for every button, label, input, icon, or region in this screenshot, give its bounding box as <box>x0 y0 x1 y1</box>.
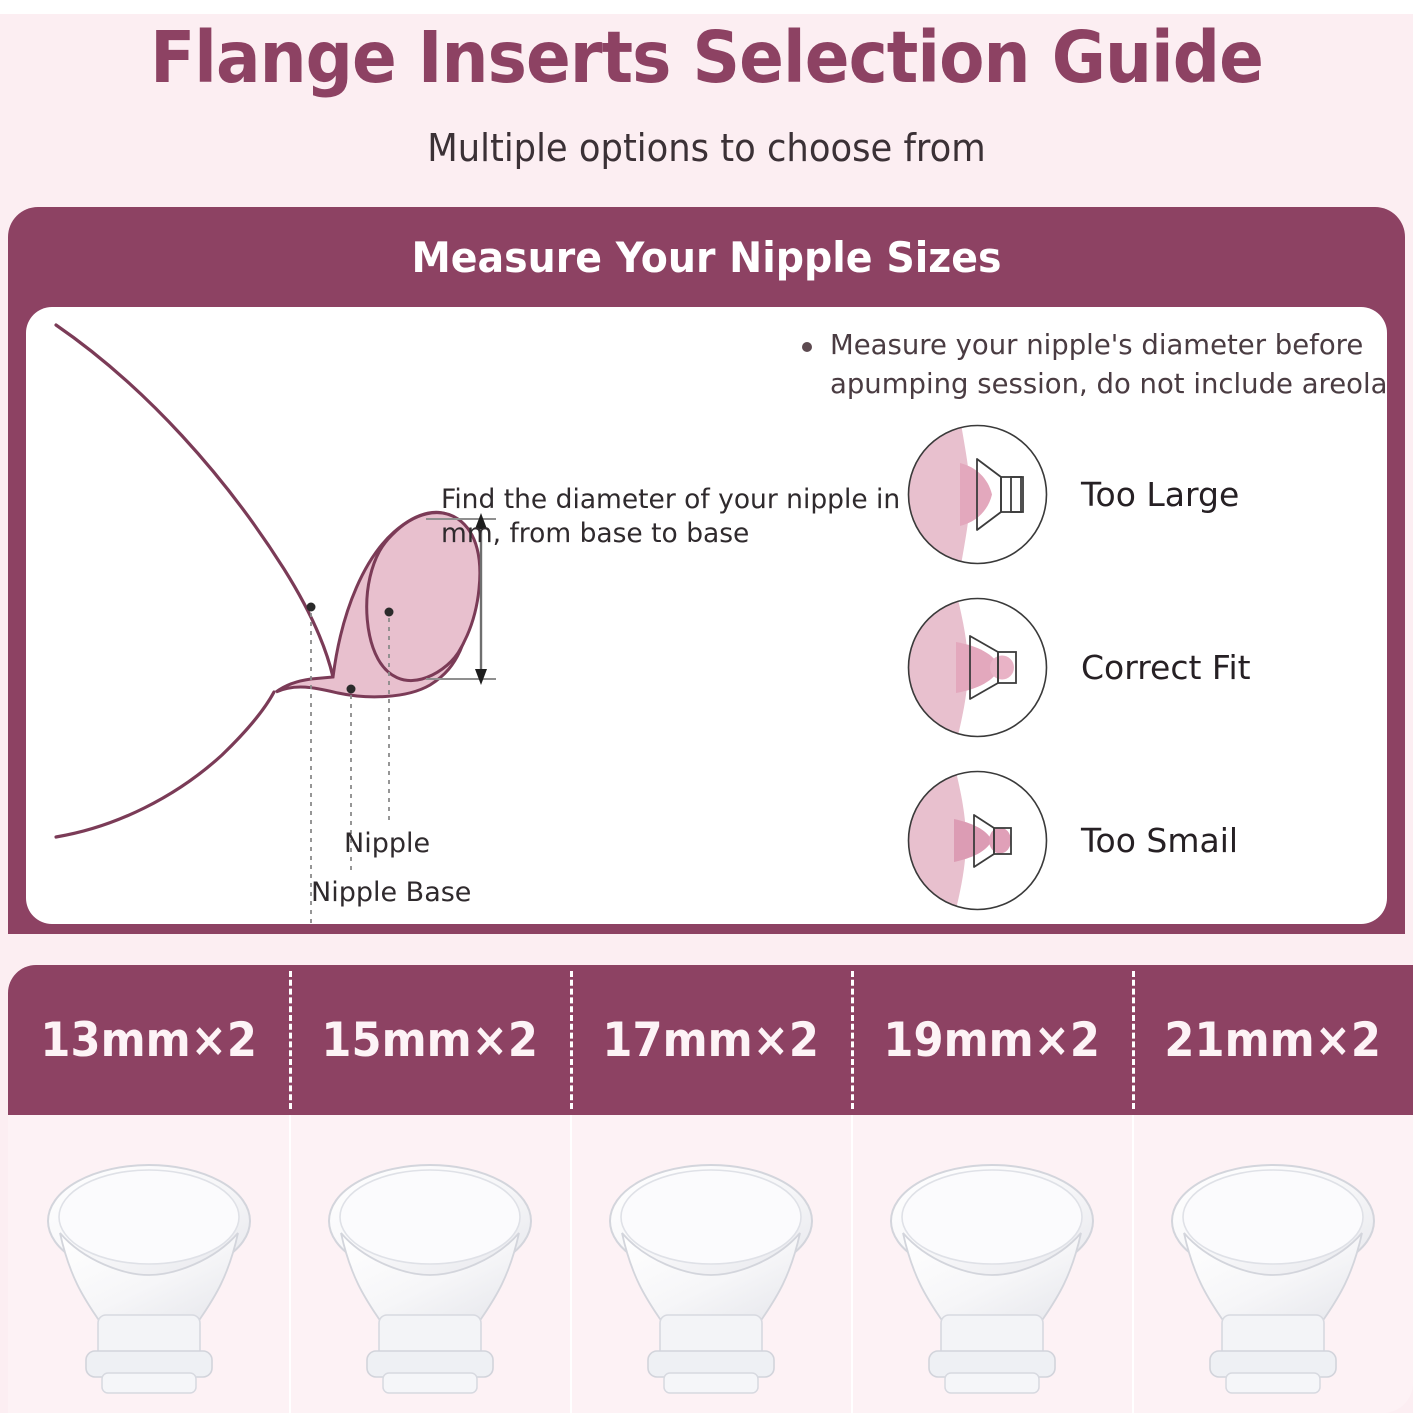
measure-bullet-text: Measure your nipple's diameter before ap… <box>830 326 1387 404</box>
label-nipple-base: Nipple Base <box>311 877 471 908</box>
page-title: Flange Inserts Selection Guide <box>49 22 1363 93</box>
bullet-dot-icon <box>802 342 812 352</box>
flange-fit-correct-icon <box>906 596 1049 739</box>
size-label: 15mm×2 <box>321 1013 538 1068</box>
measure-card-body: Find the diameter of your nipple in mm, … <box>26 307 1387 924</box>
top-white-strip <box>0 0 1413 14</box>
product-photo-row <box>8 1115 1413 1413</box>
flange-insert-photo <box>867 1129 1117 1399</box>
size-label: 21mm×2 <box>1164 1013 1381 1068</box>
size-label: 19mm×2 <box>883 1013 1100 1068</box>
product-cell <box>8 1115 289 1413</box>
label-nipple: Nipple <box>344 828 430 859</box>
fit-label-correct-fit: Correct Fit <box>1081 648 1251 687</box>
fit-label-too-small: Too Smail <box>1081 821 1238 860</box>
flange-fit-too-large-icon <box>906 423 1049 566</box>
measure-card: Measure Your Nipple Sizes <box>8 207 1405 934</box>
page-subtitle: Multiple options to choose from <box>49 126 1363 170</box>
size-cell: 15mm×2 <box>289 965 570 1115</box>
flange-fit-too-small-icon <box>906 769 1049 912</box>
product-cell <box>1132 1115 1413 1413</box>
size-cell: 21mm×2 <box>1132 965 1413 1115</box>
size-cell: 13mm×2 <box>8 965 289 1115</box>
fit-example-too-large: Too Large <box>906 407 1376 582</box>
fit-examples-column: Measure your nipple's diameter before ap… <box>786 307 1386 924</box>
fit-example-too-small: Too Smail <box>906 753 1376 924</box>
product-cell <box>289 1115 570 1413</box>
flange-insert-photo <box>24 1129 274 1399</box>
size-label: 17mm×2 <box>602 1013 819 1068</box>
size-cell: 19mm×2 <box>851 965 1132 1115</box>
flange-insert-photo <box>305 1129 555 1399</box>
product-cell <box>851 1115 1132 1413</box>
infographic-page: Flange Inserts Selection Guide Multiple … <box>0 0 1413 1413</box>
flange-insert-photo <box>586 1129 836 1399</box>
flange-insert-photo <box>1148 1129 1398 1399</box>
size-header-bar: 13mm×2 15mm×2 17mm×2 19mm×2 21mm×2 <box>8 965 1413 1115</box>
product-cell <box>570 1115 851 1413</box>
fit-label-too-large: Too Large <box>1081 475 1239 514</box>
size-label: 13mm×2 <box>40 1013 257 1068</box>
header: Flange Inserts Selection Guide Multiple … <box>0 14 1413 207</box>
measure-bullet: Measure your nipple's diameter before ap… <box>802 326 1387 404</box>
measure-banner-title: Measure Your Nipple Sizes <box>50 233 1363 282</box>
size-cell: 17mm×2 <box>570 965 851 1115</box>
fit-example-correct-fit: Correct Fit <box>906 580 1376 755</box>
